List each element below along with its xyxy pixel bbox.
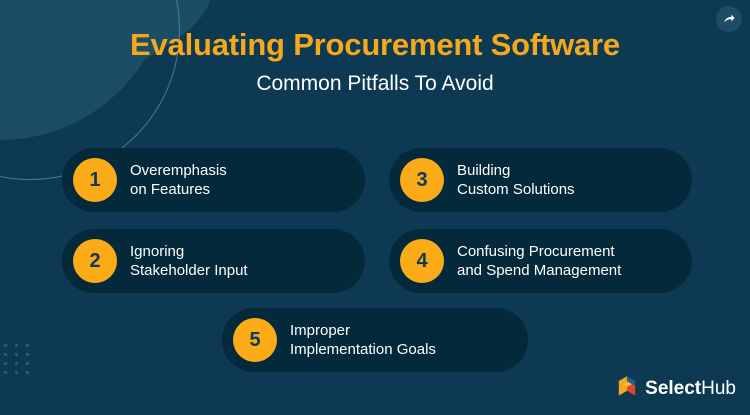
- page-title: Evaluating Procurement Software: [0, 24, 750, 66]
- item-number-badge: 1: [73, 158, 117, 202]
- list-item[interactable]: 1 Overemphasis on Features: [62, 148, 365, 212]
- item-label: Improper Implementation Goals: [290, 321, 446, 359]
- infographic-canvas: Evaluating Procurement Software Common P…: [0, 0, 750, 415]
- item-label: Overemphasis on Features: [130, 161, 237, 199]
- selecthub-cube-icon: [616, 375, 638, 402]
- selecthub-logo[interactable]: SelectHub: [616, 375, 736, 402]
- selecthub-wordmark: SelectHub: [645, 378, 736, 400]
- list-item[interactable]: 4 Confusing Procurement and Spend Manage…: [389, 229, 692, 293]
- logo-text-bold: Select: [645, 378, 701, 399]
- item-number-badge: 2: [73, 239, 117, 283]
- list-item[interactable]: 5 Improper Implementation Goals: [222, 308, 528, 372]
- header: Evaluating Procurement Software Common P…: [0, 24, 750, 100]
- dot-grid-decoration: [4, 344, 37, 380]
- page-subtitle: Common Pitfalls To Avoid: [0, 68, 750, 100]
- item-label: Confusing Procurement and Spend Manageme…: [457, 242, 631, 280]
- item-number-badge: 3: [400, 158, 444, 202]
- item-label: Ignoring Stakeholder Input: [130, 242, 258, 280]
- list-item[interactable]: 2 Ignoring Stakeholder Input: [62, 229, 365, 293]
- item-number-badge: 4: [400, 239, 444, 283]
- item-number-badge: 5: [233, 318, 277, 362]
- item-label: Building Custom Solutions: [457, 161, 585, 199]
- list-item[interactable]: 3 Building Custom Solutions: [389, 148, 692, 212]
- logo-text-light: Hub: [701, 378, 736, 399]
